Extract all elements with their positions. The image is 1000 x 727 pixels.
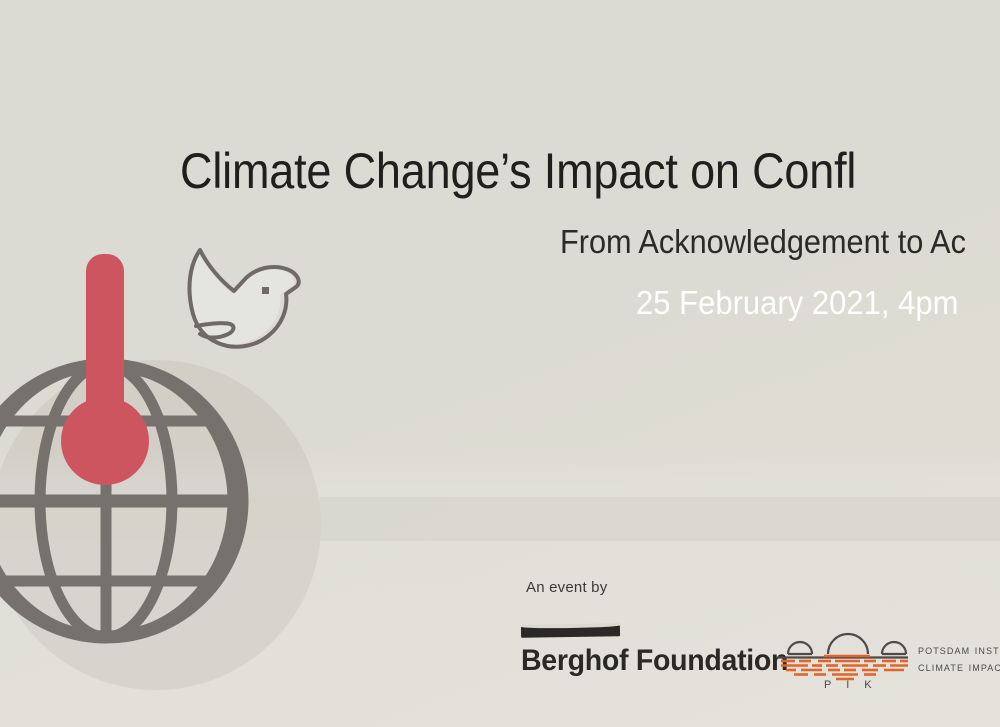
page-subtitle: From Acknowledgement to Ac xyxy=(560,222,1000,262)
berghof-foundation-logo: Berghof Foundation xyxy=(521,626,761,682)
berghof-bar-mark-icon xyxy=(521,625,620,638)
event-by-label: An event by xyxy=(526,579,607,596)
berghof-foundation-name: Berghof Foundation xyxy=(521,644,788,678)
event-banner: Climate Change’s Impact on Confl From Ac… xyxy=(0,0,1000,727)
pik-logo: P I K Potsdam Insti Climate Impac xyxy=(778,632,1000,712)
event-datetime: 25 February 2021, 4pm xyxy=(636,283,1000,323)
globe-wireframe-icon xyxy=(0,361,258,641)
dove-eye-icon xyxy=(262,287,269,294)
pik-wordmark: Potsdam Insti Climate Impac xyxy=(918,642,1000,676)
illustration-svg xyxy=(0,236,324,656)
pik-wordmark-line2: Climate Impac xyxy=(918,659,1000,676)
page-title: Climate Change’s Impact on Confl xyxy=(180,142,1000,201)
pik-acronym: P I K xyxy=(824,679,878,691)
pik-wordmark-line1: Potsdam Insti xyxy=(918,642,1000,659)
hero-illustration xyxy=(0,236,324,656)
peace-dove-icon xyxy=(189,250,298,347)
